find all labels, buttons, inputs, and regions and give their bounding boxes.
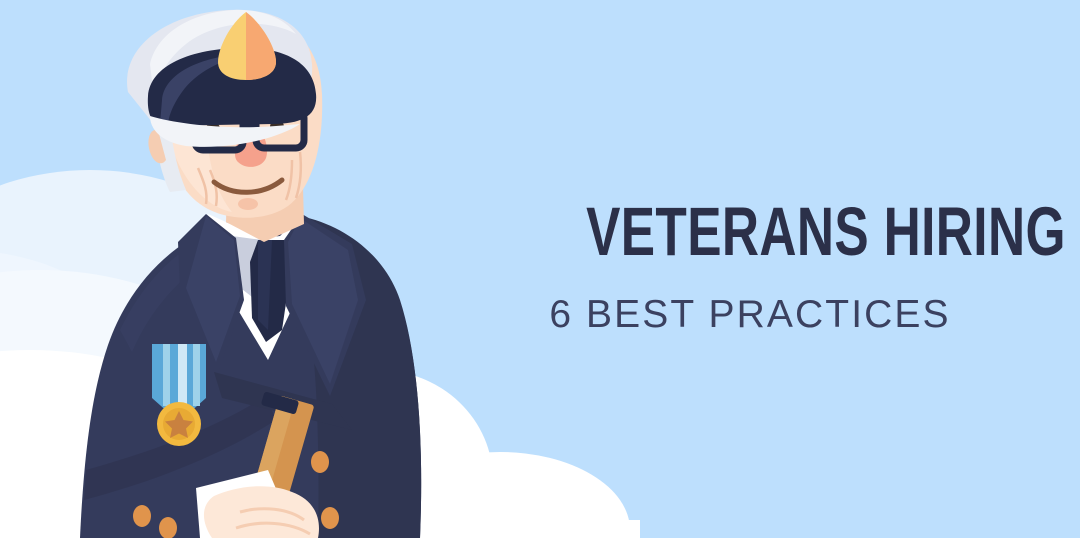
button-2 <box>321 507 339 529</box>
illustration-canvas <box>0 0 1080 538</box>
medal-ribbon-stripe-2 <box>178 344 187 412</box>
button-1 <box>311 451 329 473</box>
button-3 <box>133 505 151 527</box>
chin-dimple <box>238 198 258 210</box>
medal-ribbon-icon <box>152 344 206 446</box>
button-4 <box>159 517 177 538</box>
medal-ribbon-stripe-1 <box>163 344 170 406</box>
medal-ribbon-stripe-3 <box>193 344 200 406</box>
veterans-hiring-banner: VETERANS HIRING 6 BEST PRACTICES <box>0 0 1080 538</box>
